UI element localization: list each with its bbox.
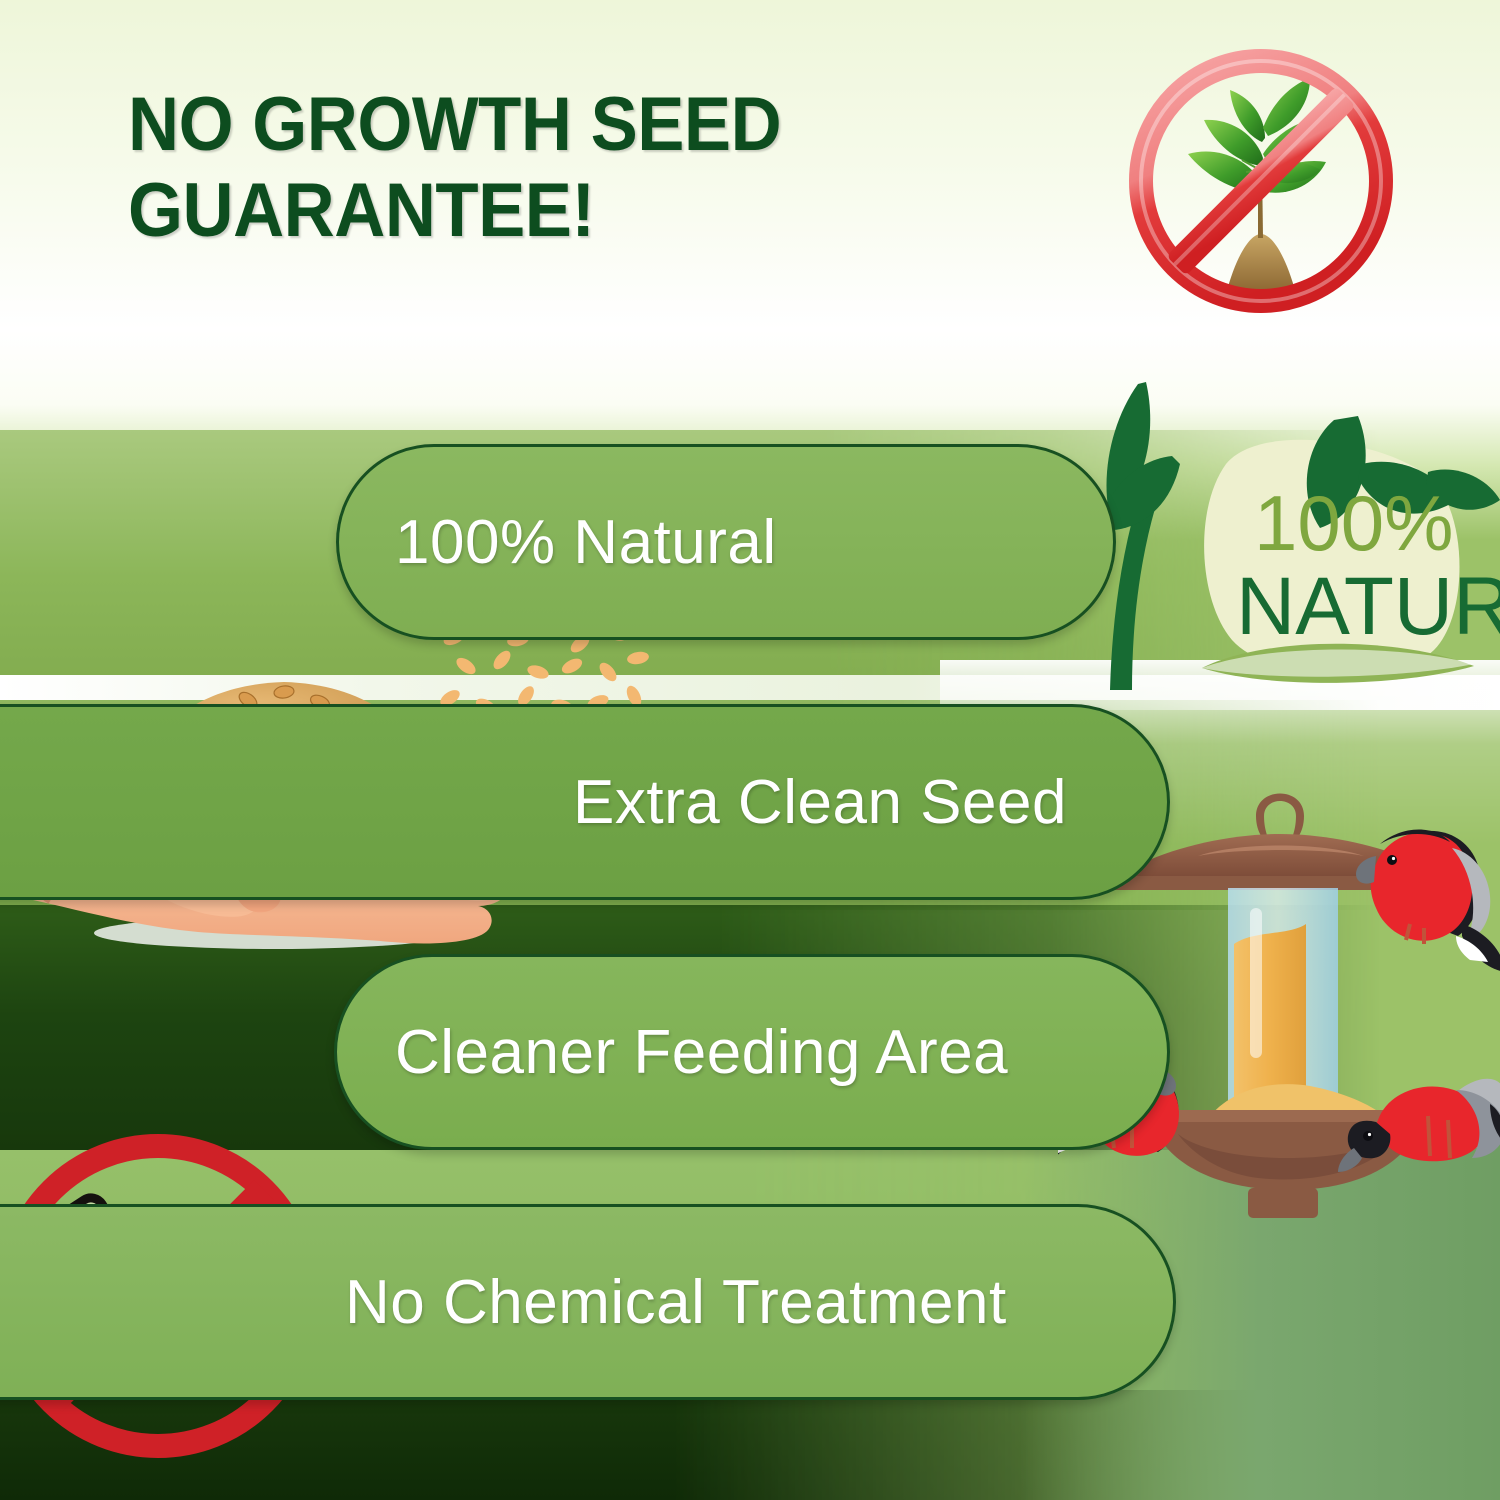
feature-label-clean-seed: Extra Clean Seed [573, 767, 1067, 838]
feature-label-natural: 100% Natural [395, 507, 777, 578]
feature-pill-natural[interactable]: 100% Natural [336, 444, 1116, 640]
headline-line-1: NO GROWTH SEED [128, 82, 965, 168]
badge-natural-text: NATURAL [1236, 561, 1500, 652]
no-plant-growth-icon [1122, 42, 1400, 320]
infographic-canvas: NO GROWTH SEED GUARANTEE! [0, 0, 1500, 1500]
100-percent-natural-badge-icon: 100% NATURAL [1076, 368, 1500, 690]
page-title: NO GROWTH SEED GUARANTEE! [128, 82, 965, 254]
feature-pill-clean-seed[interactable]: Extra Clean Seed [0, 704, 1170, 900]
feature-label-feeding-area: Cleaner Feeding Area [395, 1017, 1008, 1088]
badge-percent-text: 100% [1254, 479, 1454, 567]
feature-label-no-chemical: No Chemical Treatment [345, 1267, 1007, 1338]
feature-pill-no-chemical[interactable]: No Chemical Treatment [0, 1204, 1176, 1400]
feature-pill-feeding-area[interactable]: Cleaner Feeding Area [334, 954, 1170, 1150]
headline-line-2: GUARANTEE! [128, 168, 965, 254]
